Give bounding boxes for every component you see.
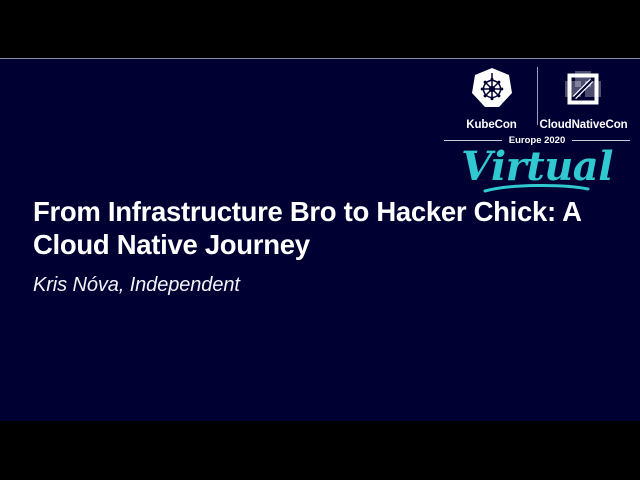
presentation-slide: KubeCon CloudNativeCon Europe 2020 Virtu… bbox=[0, 59, 640, 421]
kubernetes-helm-icon bbox=[471, 67, 513, 116]
virtual-badge: Virtual bbox=[442, 145, 632, 193]
letterbox-bar-top bbox=[0, 0, 640, 58]
kubecon-logo-mark bbox=[449, 67, 535, 116]
edition-rule-right bbox=[572, 140, 630, 141]
cloudnativecon-label: CloudNativeCon bbox=[540, 119, 626, 131]
logo-marks-row bbox=[442, 68, 632, 114]
logo-divider bbox=[537, 67, 538, 125]
video-player-viewport: KubeCon CloudNativeCon Europe 2020 Virtu… bbox=[0, 0, 640, 480]
virtual-swoosh-icon bbox=[482, 183, 592, 195]
cloudnativecon-logo-mark bbox=[540, 69, 626, 114]
letterbox-separator-line bbox=[0, 58, 640, 59]
cncf-square-slash-icon bbox=[563, 69, 603, 114]
slide-subtitle-speaker: Kris Nóva, Independent bbox=[33, 272, 593, 298]
slide-title: From Infrastructure Bro to Hacker Chick:… bbox=[33, 195, 593, 261]
kubecon-cloudnativecon-logo-lockup: KubeCon CloudNativeCon Europe 2020 Virtu… bbox=[442, 68, 632, 193]
title-block: From Infrastructure Bro to Hacker Chick:… bbox=[33, 195, 593, 298]
letterbox-bar-bottom bbox=[0, 421, 640, 480]
kubecon-label: KubeCon bbox=[449, 119, 535, 131]
edition-rule-left bbox=[444, 140, 502, 141]
